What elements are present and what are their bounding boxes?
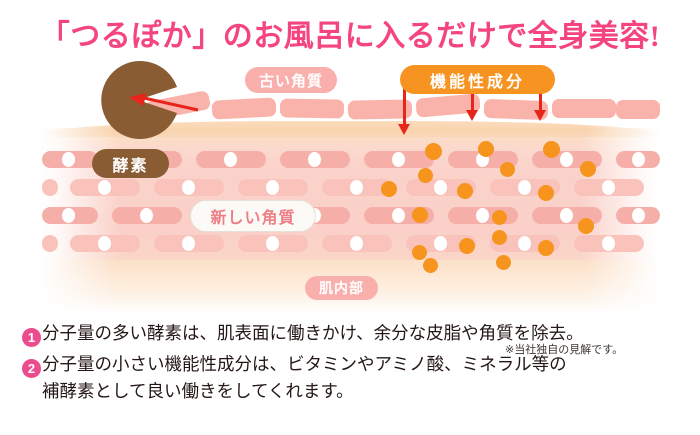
ingredient-dot [381, 181, 397, 197]
ingredient-dot [543, 141, 560, 158]
cell-nucleus [602, 180, 615, 195]
cell-nucleus [98, 180, 111, 195]
cell-nucleus [266, 236, 279, 251]
cell-nucleus [392, 152, 405, 167]
label-skin-interior: 肌内部 [305, 276, 378, 300]
cell-nucleus [392, 208, 405, 223]
cell-nucleus [560, 208, 573, 223]
ingredient-dot [418, 168, 433, 183]
label-new-keratin: 新しい角質 [190, 200, 316, 232]
ingredient-dot [496, 255, 511, 270]
peel-arrow-icon [126, 93, 200, 115]
ingredient-dot [578, 218, 594, 234]
ingredient-dot [459, 238, 475, 254]
cell-nucleus [224, 152, 237, 167]
cell-nucleus [350, 180, 363, 195]
cell-nucleus [632, 152, 645, 167]
cell-nucleus [308, 152, 321, 167]
old-keratin-cell [212, 97, 277, 119]
note-bullet-1: 1 [22, 328, 41, 347]
keratin-cell [42, 235, 58, 252]
note-1-line-1: 分子量の多い酵素は、肌表面に働きかけ、余分な皮脂や角質を除去。 [42, 323, 584, 343]
old-keratin-cell [552, 99, 616, 118]
ingredient-dot [412, 245, 427, 260]
skin-cross-section-diagram: 古い角質 機能性成分 酵素 新しい角質 肌内部 ※当社独自の見解です。 [0, 55, 700, 313]
cell-nucleus [266, 180, 279, 195]
note-item-1: 1分子量の多い酵素は、肌表面に働きかけ、余分な皮脂や角質を除去。 [22, 320, 682, 347]
infographic-root: 「つるぽか」のお風呂に入るだけで全身美容! [0, 0, 700, 435]
label-old-keratin: 古い角質 [245, 67, 337, 93]
cell-nucleus [98, 236, 111, 251]
note-bullet-2: 2 [22, 359, 41, 378]
ingredient-dot [492, 210, 507, 225]
old-keratin-cell [280, 98, 344, 118]
cell-nucleus [476, 208, 489, 223]
old-keratin-cell [616, 100, 660, 119]
cell-nucleus [518, 180, 531, 195]
ingredient-dot [580, 161, 596, 177]
ingredient-dot [457, 183, 473, 199]
ingredient-dot [478, 141, 494, 157]
cell-nucleus [434, 236, 447, 251]
ingredient-dot [538, 240, 554, 256]
ingredient-dot [500, 162, 515, 177]
note-2-line-2: 補酵素として良い働きをしてくれます。 [42, 381, 354, 401]
ingredient-dot [412, 207, 428, 223]
cell-nucleus [62, 152, 75, 167]
label-functional-ingredient: 機能性成分 [400, 65, 555, 94]
cell-nucleus [182, 180, 195, 195]
keratin-cell [42, 179, 58, 196]
cell-nucleus [182, 236, 195, 251]
cell-nucleus [140, 208, 153, 223]
ingredient-dot [423, 258, 438, 273]
cell-nucleus [632, 208, 645, 223]
label-enzyme: 酵素 [92, 149, 169, 178]
ingredient-dot [492, 230, 507, 245]
cell-nucleus [62, 208, 75, 223]
page-title: 「つるぽか」のお風呂に入るだけで全身美容! [0, 11, 700, 55]
ingredient-dot [425, 143, 442, 160]
cell-nucleus [434, 180, 447, 195]
cell-nucleus [350, 236, 363, 251]
note-2-line-1: 分子量の小さい機能性成分は、ビタミンやアミノ酸、ミネラル等の [42, 354, 567, 374]
cell-nucleus [602, 236, 615, 251]
ingredient-dot [538, 185, 554, 201]
cell-nucleus [560, 152, 573, 167]
explanation-notes: 1分子量の多い酵素は、肌表面に働きかけ、余分な皮脂や角質を除去。 2分子量の小さ… [22, 320, 682, 408]
cell-nucleus [518, 236, 531, 251]
note-item-2: 2分子量の小さい機能性成分は、ビタミンやアミノ酸、ミネラル等の 補酵素として良い… [22, 351, 682, 404]
